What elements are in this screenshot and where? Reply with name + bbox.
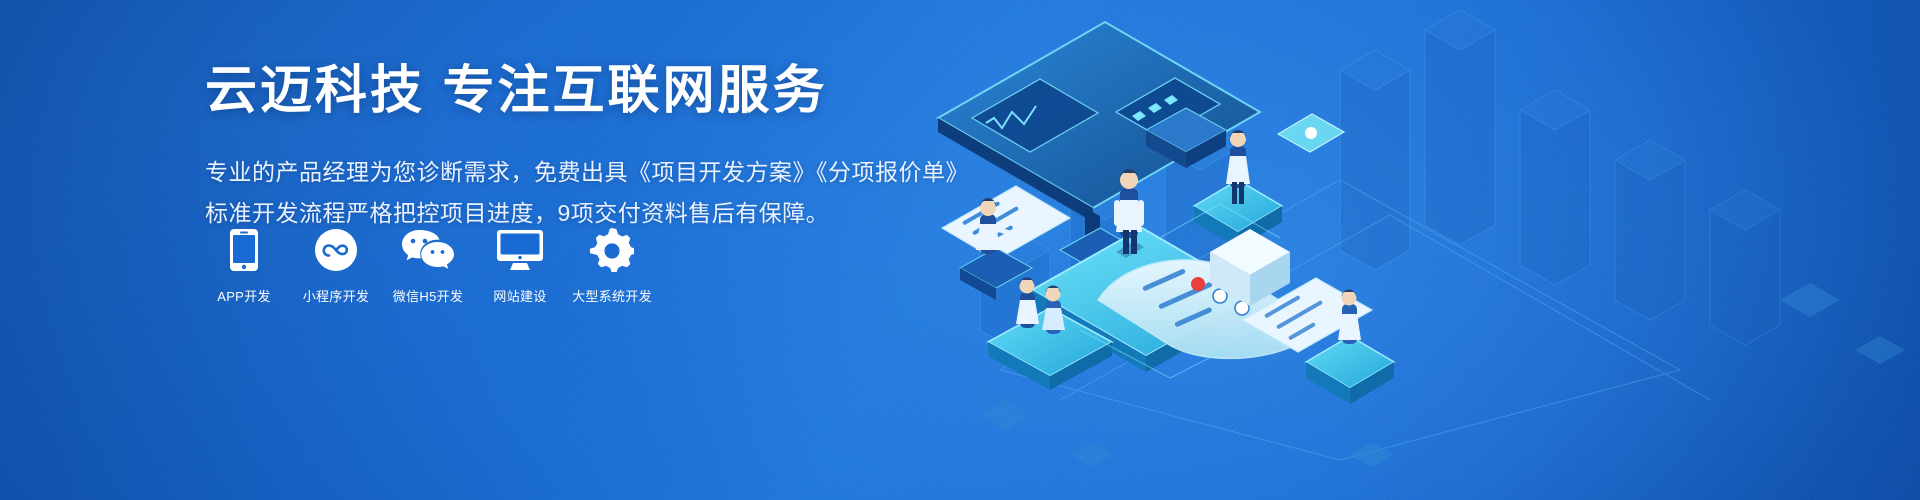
service-item-app[interactable]: APP开发 — [205, 228, 283, 305]
gear-icon — [590, 228, 634, 272]
illustration-container — [920, 0, 1920, 500]
subtitle-line-2: 标准开发流程严格把控项目进度，9项交付资料售后有保障。 — [205, 193, 925, 233]
wechat-chat-icon — [402, 228, 454, 272]
service-label: APP开发 — [217, 286, 271, 305]
service-label: 大型系统开发 — [572, 286, 652, 305]
service-label: 微信H5开发 — [393, 286, 463, 305]
monitor-icon — [497, 228, 543, 272]
service-label: 网站建设 — [493, 286, 546, 305]
service-item-wechat-h5[interactable]: 微信H5开发 — [389, 228, 467, 305]
mini-program-icon — [315, 228, 357, 272]
service-list: APP开发 小程序开发 微信 — [205, 228, 651, 305]
subtitle-line-1: 专业的产品经理为您诊断需求，免费出具《项目开发方案》《分项报价单》 — [205, 152, 925, 192]
mobile-phone-icon — [230, 228, 258, 272]
floating-badge — [1278, 114, 1344, 152]
marketing-banner: 云迈科技 专注互联网服务 专业的产品经理为您诊断需求，免费出具《项目开发方案》《… — [0, 0, 1920, 500]
page-title: 云迈科技 专注互联网服务 — [205, 60, 925, 122]
service-label: 小程序开发 — [303, 286, 370, 305]
service-item-website[interactable]: 网站建设 — [481, 228, 559, 305]
service-item-large-system[interactable]: 大型系统开发 — [573, 228, 651, 305]
subtitle-block: 专业的产品经理为您诊断需求，免费出具《项目开发方案》《分项报价单》 标准开发流程… — [205, 152, 925, 233]
banner-content: 云迈科技 专注互联网服务 专业的产品经理为您诊断需求，免费出具《项目开发方案》《… — [205, 60, 925, 233]
service-item-mini-program[interactable]: 小程序开发 — [297, 228, 375, 305]
